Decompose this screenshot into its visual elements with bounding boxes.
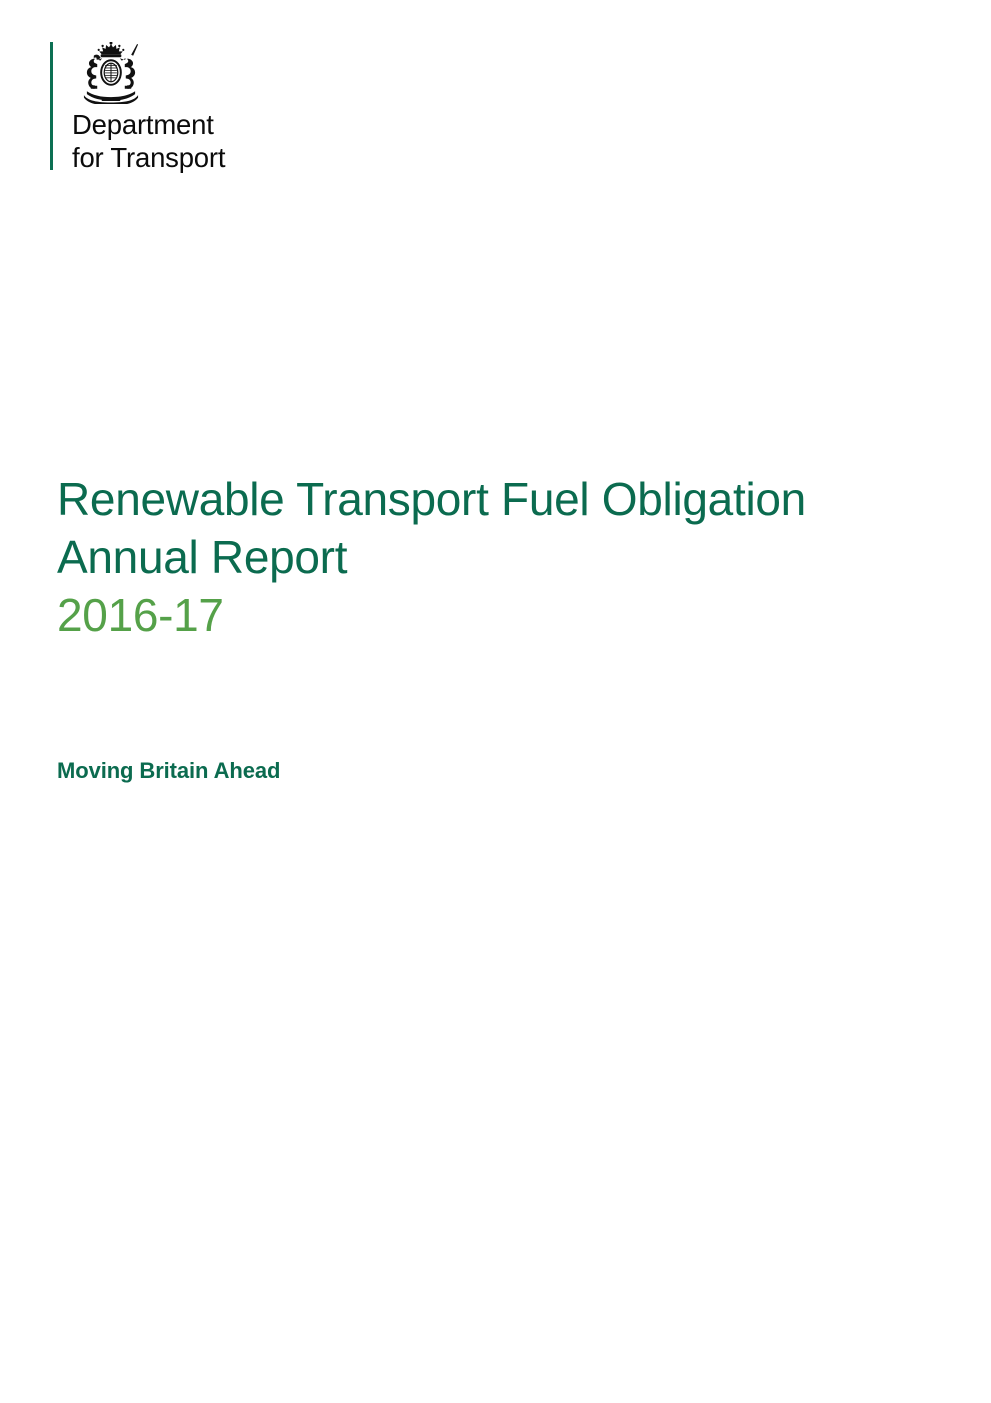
title-line-1: Renewable Transport Fuel Obligation: [57, 470, 937, 528]
document-cover-page: Department for Transport Renewable Trans…: [0, 0, 991, 1403]
logo-wordmark: Department for Transport: [72, 108, 225, 174]
logo-wordmark-line2: for Transport: [72, 141, 225, 174]
tagline: Moving Britain Ahead: [57, 757, 280, 785]
logo-wordmark-line1: Department: [72, 108, 225, 141]
title-year: 2016-17: [57, 586, 937, 644]
title-line-2: Annual Report: [57, 528, 937, 586]
logo-body: Department for Transport: [72, 42, 225, 170]
department-for-transport-logo: Department for Transport: [50, 42, 225, 170]
logo-vertical-rule: [50, 42, 53, 170]
page-title: Renewable Transport Fuel Obligation Annu…: [57, 470, 937, 644]
royal-coat-of-arms-icon: [74, 42, 148, 104]
